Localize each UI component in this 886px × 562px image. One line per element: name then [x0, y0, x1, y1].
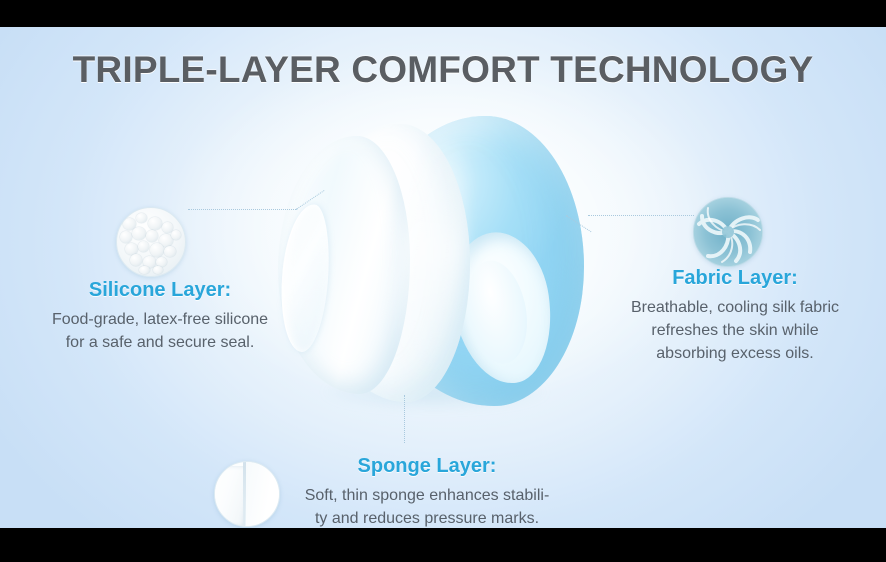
callout-sponge-body-line-1: Soft, thin sponge enhances stabili-: [272, 484, 582, 507]
callout-sponge-body: Soft, thin sponge enhances stabili- ty a…: [272, 484, 582, 528]
callout-fabric-body-line-2: refreshes the skin while: [590, 319, 880, 342]
infographic-slide: TRIPLE-LAYER COMFORT TECHNOLOGY: [0, 27, 886, 528]
callout-silicone-body-line-1: Food-grade, latex-free silicone: [10, 308, 310, 331]
callout-silicone-body: Food-grade, latex-free silicone for a sa…: [10, 308, 310, 354]
fabric-swirl-icon: [693, 197, 763, 267]
connector-line-fabric-horizontal: [588, 215, 694, 216]
callout-silicone: Silicone Layer: Food-grade, latex-free s…: [10, 279, 310, 354]
callout-sponge-heading: Sponge Layer:: [272, 455, 582, 478]
callout-sponge-body-line-2: ty and reduces pressure marks.: [272, 507, 582, 528]
letterbox-bar-bottom: [0, 528, 886, 562]
sponge-slab-edge: [243, 461, 246, 527]
sponge-slab-icon: [214, 461, 280, 527]
callout-fabric-heading: Fabric Layer:: [590, 267, 880, 290]
callout-fabric-body-line-1: Breathable, cooling silk fabric: [590, 296, 880, 319]
callout-silicone-heading: Silicone Layer:: [10, 279, 310, 302]
callout-sponge: Sponge Layer: Soft, thin sponge enhances…: [272, 455, 582, 528]
callout-fabric-body: Breathable, cooling silk fabric refreshe…: [590, 296, 880, 365]
slide-stage: TRIPLE-LAYER COMFORT TECHNOLOGY: [0, 0, 886, 562]
callout-silicone-body-line-2: for a safe and secure seal.: [10, 331, 310, 354]
page-title: TRIPLE-LAYER COMFORT TECHNOLOGY: [0, 49, 886, 91]
product-image: [278, 112, 590, 412]
callout-fabric-body-line-3: absorbing excess oils.: [590, 342, 880, 365]
letterbox-bar-top: [0, 0, 886, 27]
callout-fabric: Fabric Layer: Breathable, cooling silk f…: [590, 267, 880, 365]
silicone-pellets-icon: [116, 207, 186, 277]
